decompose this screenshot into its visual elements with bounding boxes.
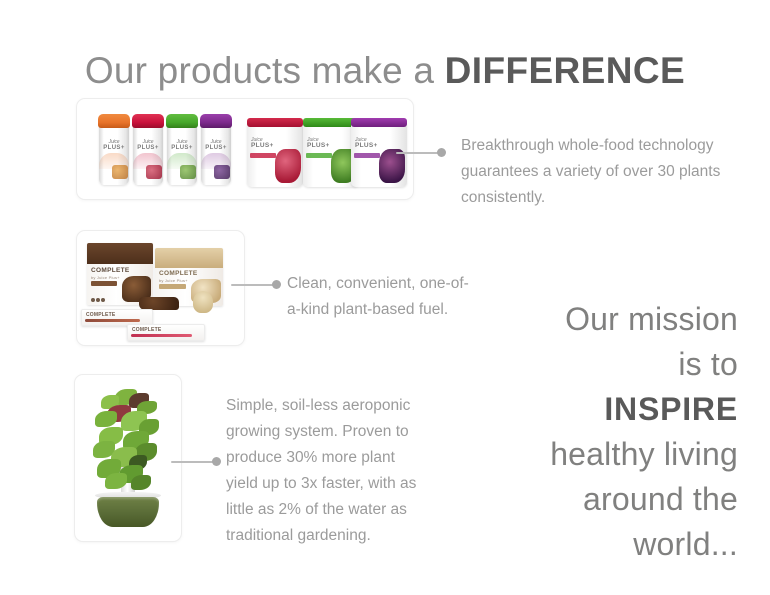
connector-dot	[272, 280, 281, 289]
mission-line-4: healthy living	[408, 432, 738, 477]
berry-pouch: JuicePLUS+	[247, 123, 303, 187]
page-title-light: Our products make a	[85, 50, 445, 91]
vanilla-bean-art	[193, 291, 213, 313]
connector-stem	[231, 284, 273, 286]
box-dots	[91, 289, 107, 293]
bar-stripe	[131, 334, 192, 337]
product-card-complete: COMPLETE by Juice Plus+ COMPLETE by Juic…	[76, 230, 245, 346]
page-title-bold: DIFFERENCE	[445, 50, 685, 91]
box-title: COMPLETE	[91, 267, 130, 274]
bottle-cap-red	[132, 114, 164, 128]
pouch-seal-red	[247, 118, 303, 127]
bottle-label: JuicePLUS+	[101, 139, 127, 150]
bottle-label: JuicePLUS+	[169, 139, 195, 150]
berry-blend-bottle: JuicePLUS+	[133, 123, 163, 185]
tower-pot	[97, 497, 159, 527]
bottle-fruit-art	[112, 165, 128, 179]
box-flavor-band	[91, 281, 117, 286]
box-top-chocolate	[87, 243, 153, 264]
complete-product-image: COMPLETE by Juice Plus+ COMPLETE by Juic…	[77, 231, 244, 345]
pouch-label: JuicePLUS+	[251, 137, 274, 149]
connector-line-2	[231, 280, 281, 289]
mission-inspire: INSPIRE	[408, 387, 738, 432]
pouch-fruit-art	[275, 149, 301, 183]
connector-stem	[396, 152, 438, 154]
mission-statement: Our mission is to INSPIRE healthy living…	[408, 297, 738, 567]
box-flavor-band	[159, 284, 186, 289]
box-title: COMPLETE	[159, 270, 198, 277]
box-subtitle: by Juice Plus+	[159, 278, 188, 283]
callout-whole-food: Breakthrough whole-food technology guara…	[461, 133, 731, 211]
mission-line-6: world...	[408, 522, 738, 567]
bottle-cap-orange	[98, 114, 130, 128]
page-title: Our products make a DIFFERENCE	[0, 49, 770, 93]
pouch-label: JuicePLUS+	[355, 137, 378, 149]
vineyard-blend-bottle: JuicePLUS+	[201, 123, 231, 185]
bottle-cap-purple	[200, 114, 232, 128]
pouch-band	[354, 153, 380, 158]
bar-title: COMPLETE	[86, 312, 115, 318]
product-card-juice-plus: JuicePLUS+ JuicePLUS+ JuicePLUS+ JuicePL…	[76, 98, 414, 200]
bottle-label: JuicePLUS+	[203, 139, 229, 150]
callout-aeroponic: Simple, soil-less aeroponic growing syst…	[226, 393, 421, 549]
mission-line-5: around the	[408, 477, 738, 522]
pouch-seal-purple	[351, 118, 407, 127]
mission-line-2: is to	[408, 342, 738, 387]
infographic-page: Our products make a DIFFERENCE JuicePLUS…	[0, 0, 770, 595]
bar-title: COMPLETE	[132, 327, 161, 333]
bottle-fruit-art	[180, 165, 196, 179]
complete-chocolate-box: COMPLETE by Juice Plus+	[87, 243, 153, 305]
orchard-blend-bottle: JuicePLUS+	[99, 123, 129, 185]
garden-blend-bottle: JuicePLUS+	[167, 123, 197, 185]
pouch-band	[250, 153, 276, 158]
tower-garden-image	[75, 375, 181, 541]
connector-line-3	[171, 457, 221, 466]
box-subtitle: by Juice Plus+	[91, 275, 120, 280]
connector-stem	[171, 461, 213, 463]
tower-greens	[91, 389, 165, 493]
bottle-fruit-art	[146, 165, 162, 179]
connector-dot	[212, 457, 221, 466]
bar-stripe	[85, 319, 140, 322]
mission-line-1: Our mission	[408, 297, 738, 342]
bottle-label: JuicePLUS+	[135, 139, 161, 150]
box-dots	[159, 291, 175, 295]
connector-line-1	[396, 148, 446, 157]
complete-bar-berry: COMPLETE	[127, 324, 205, 341]
box-top-vanilla	[155, 248, 223, 268]
connector-dot	[437, 148, 446, 157]
product-card-tower-garden	[74, 374, 182, 542]
pouch-label: JuicePLUS+	[307, 137, 330, 149]
pouch-band	[306, 153, 332, 158]
bottle-fruit-art	[214, 165, 230, 179]
bottle-cap-green	[166, 114, 198, 128]
juice-plus-product-image: JuicePLUS+ JuicePLUS+ JuicePLUS+ JuicePL…	[77, 99, 413, 199]
